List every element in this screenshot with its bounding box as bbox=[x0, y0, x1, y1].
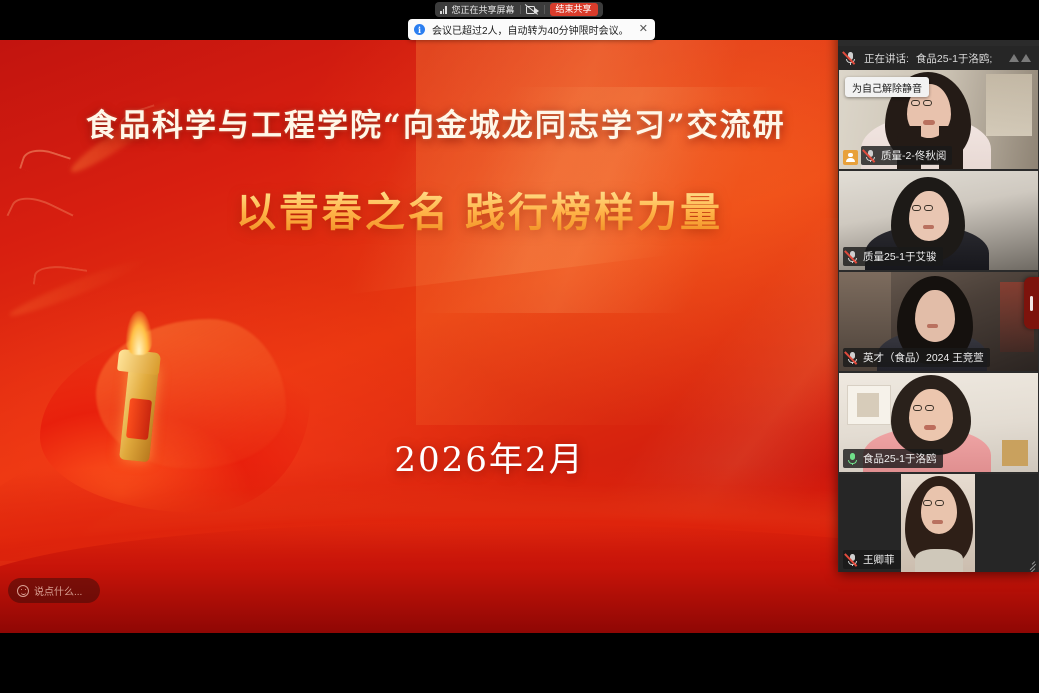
signal-bars-icon bbox=[440, 6, 447, 14]
comment-input[interactable]: 说点什么... bbox=[8, 578, 100, 603]
drag-handle-icon bbox=[1030, 296, 1034, 311]
participant-name-chip: 质量-2-佟秋阅 bbox=[861, 146, 952, 165]
bottom-black-bar bbox=[0, 633, 1039, 693]
mic-muted-icon bbox=[844, 51, 857, 65]
host-badge bbox=[843, 150, 858, 165]
video-tile[interactable]: 质量25-1于艾骏 bbox=[839, 171, 1038, 270]
dove-icon bbox=[19, 144, 71, 183]
participant-name-chip: 食品25-1于洛鸥 bbox=[843, 449, 943, 468]
close-icon[interactable]: ✕ bbox=[639, 24, 648, 35]
unmute-tooltip[interactable]: 为自己解除静音 bbox=[845, 77, 929, 97]
speaking-name: 食品25-1于洛鸥; bbox=[916, 51, 992, 66]
mic-muted-icon bbox=[846, 250, 859, 264]
camera-off-icon[interactable] bbox=[526, 5, 539, 15]
participant-name: 王卿菲 bbox=[863, 552, 895, 567]
panel-collapse-handle[interactable] bbox=[1024, 277, 1039, 329]
video-tile-active-speaker[interactable]: 食品25-1于洛鸥 bbox=[839, 373, 1038, 472]
participant-name: 英才（食品）2024 王竞萱 bbox=[863, 350, 984, 365]
decorative-ribbon bbox=[7, 252, 151, 321]
mic-muted-icon bbox=[846, 553, 859, 567]
audio-wave-icon bbox=[1009, 54, 1031, 62]
mic-muted-icon bbox=[846, 351, 859, 365]
comment-placeholder-text: 说点什么... bbox=[34, 583, 82, 598]
participant-name-chip: 王卿菲 bbox=[843, 550, 901, 569]
top-black-bar: 您正在共享屏幕 结束共享 i 会议已超过2人，自动转为40分钟限时会议。 ✕ bbox=[0, 0, 1039, 40]
end-share-button[interactable]: 结束共享 bbox=[550, 3, 598, 17]
mic-live-icon bbox=[846, 452, 859, 466]
notification-text: 会议已超过2人，自动转为40分钟限时会议。 bbox=[432, 22, 629, 37]
participant-name-chip: 质量25-1于艾骏 bbox=[843, 247, 943, 266]
video-tile[interactable]: 英才（食品）2024 王竞萱 bbox=[839, 272, 1038, 371]
flame-icon bbox=[126, 311, 152, 355]
meeting-screen-share-view: 食品科学与工程学院“向金城龙同志学习”交流研 以青春之名 践行榜样力量 2026… bbox=[0, 0, 1039, 693]
resize-grip-icon[interactable] bbox=[1024, 559, 1035, 570]
video-tile-list: 为自己解除静音 质量-2-佟秋阅 bbox=[838, 70, 1039, 572]
speaking-label: 正在讲话: bbox=[864, 51, 909, 66]
active-speaker-bar: 正在讲话: 食品25-1于洛鸥; bbox=[838, 46, 1039, 70]
divider bbox=[544, 5, 545, 14]
share-status-label: 您正在共享屏幕 bbox=[452, 3, 515, 16]
video-tile[interactable]: 为自己解除静音 质量-2-佟秋阅 bbox=[839, 70, 1038, 169]
screen-share-toolbar: 您正在共享屏幕 结束共享 bbox=[435, 2, 603, 17]
participant-video-panel: 正在讲话: 食品25-1于洛鸥; 为自己解除静音 bbox=[838, 22, 1039, 572]
participant-name: 质量-2-佟秋阅 bbox=[881, 148, 946, 163]
divider bbox=[520, 5, 521, 14]
participant-name-chip: 英才（食品）2024 王竞萱 bbox=[843, 348, 990, 367]
mic-muted-icon bbox=[864, 149, 877, 163]
smiley-icon bbox=[17, 585, 29, 597]
dove-icon bbox=[33, 262, 88, 291]
info-circle-icon: i bbox=[414, 24, 425, 35]
torch-top bbox=[117, 349, 161, 375]
flag-silk-shape bbox=[40, 323, 310, 513]
video-tile[interactable]: 王卿菲 bbox=[839, 474, 1038, 572]
participant-name: 质量25-1于艾骏 bbox=[863, 249, 937, 264]
meeting-limit-notification: i 会议已超过2人，自动转为40分钟限时会议。 ✕ bbox=[408, 19, 655, 40]
participant-name: 食品25-1于洛鸥 bbox=[863, 451, 937, 466]
